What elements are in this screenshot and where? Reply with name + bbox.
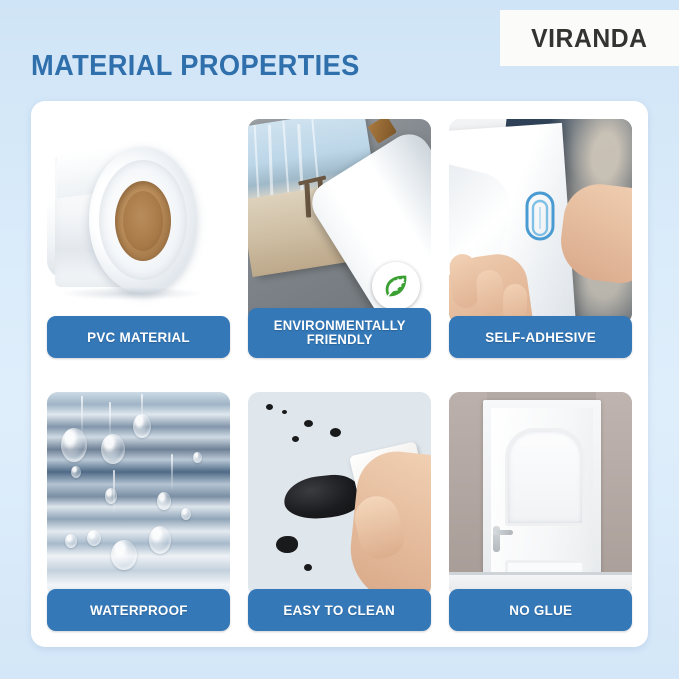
- feature-card-environmentally-friendly[interactable]: ENVIRONMENTALLY FRIENDLY: [248, 119, 431, 358]
- easy-to-clean-label-text: EASY TO CLEAN: [280, 603, 399, 617]
- no-glue-label-text: NO GLUE: [505, 603, 576, 617]
- feature-grid: PVC MATERIAL: [47, 119, 632, 631]
- waterproof-image: [47, 392, 230, 597]
- feature-card-easy-to-clean[interactable]: EASY TO CLEAN: [248, 392, 431, 631]
- pvc-material-label: PVC MATERIAL: [47, 316, 230, 358]
- self-adhesive-label-text: SELF-ADHESIVE: [481, 330, 599, 344]
- label-line-1: ENVIRONMENTALLY: [274, 318, 406, 333]
- easy-to-clean-label: EASY TO CLEAN: [248, 589, 431, 631]
- feature-card-waterproof[interactable]: WATERPROOF: [47, 392, 230, 631]
- green-leaf-icon: [381, 271, 411, 301]
- page-title: MATERIAL PROPERTIES: [31, 50, 360, 83]
- no-glue-image: [449, 392, 632, 597]
- waterproof-label: WATERPROOF: [47, 589, 230, 631]
- paperclip-icon: [523, 189, 557, 243]
- self-adhesive-image: [449, 119, 632, 324]
- environmentally-friendly-label: ENVIRONMENTALLY FRIENDLY: [248, 308, 431, 358]
- brand-name: VIRANDA: [531, 23, 648, 54]
- pvc-material-image: [47, 119, 230, 324]
- feature-card-self-adhesive[interactable]: SELF-ADHESIVE: [449, 119, 632, 358]
- environmentally-friendly-image: [248, 119, 431, 324]
- no-glue-label: NO GLUE: [449, 589, 632, 631]
- easy-to-clean-image: [248, 392, 431, 597]
- brand-badge: VIRANDA: [500, 10, 679, 66]
- eco-leaf-badge: [372, 262, 420, 310]
- label-line-2: FRIENDLY: [307, 332, 373, 347]
- pvc-material-label-text: PVC MATERIAL: [83, 330, 193, 344]
- feature-card-no-glue[interactable]: NO GLUE: [449, 392, 632, 631]
- waterproof-label-text: WATERPROOF: [86, 603, 191, 617]
- self-adhesive-label: SELF-ADHESIVE: [449, 316, 632, 358]
- paperclip-logo: [523, 189, 557, 248]
- feature-card-pvc-material[interactable]: PVC MATERIAL: [47, 119, 230, 358]
- environmentally-friendly-label-text: ENVIRONMENTALLY FRIENDLY: [270, 319, 410, 348]
- product-feature-infographic: VIRANDA MATERIAL PROPERTIES PVC: [0, 0, 679, 679]
